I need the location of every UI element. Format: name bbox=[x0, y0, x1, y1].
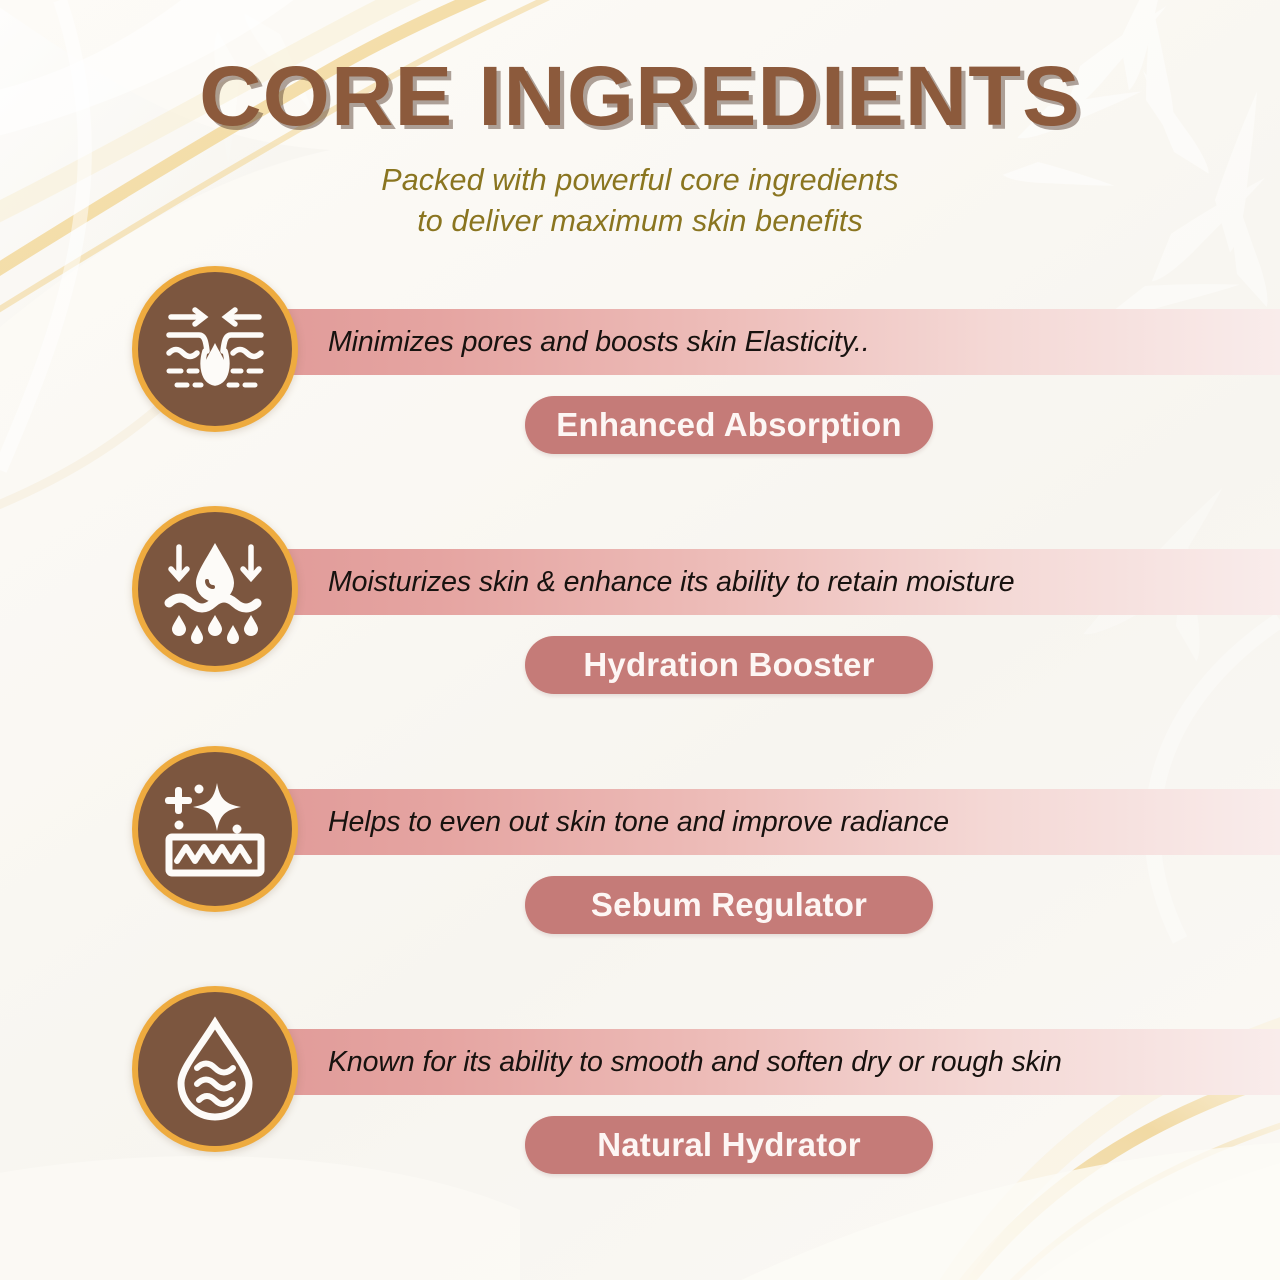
droplet-waves-hydration-icon bbox=[132, 986, 298, 1152]
benefit-description: Moisturizes skin & enhance its ability t… bbox=[250, 566, 1015, 599]
benefit-bar: Known for its ability to smooth and soft… bbox=[250, 1029, 1280, 1095]
ingredient-list: Minimizes pores and boosts skin Elastici… bbox=[0, 261, 1280, 1221]
pore-minimizing-droplet-icon bbox=[132, 266, 298, 432]
benefit-badge-label: Hydration Booster bbox=[583, 646, 874, 684]
benefit-badge[interactable]: Sebum Regulator bbox=[525, 876, 933, 934]
header: CORE INGREDIENTS Packed with powerful co… bbox=[0, 0, 1280, 241]
benefit-bar: Helps to even out skin tone and improve … bbox=[250, 789, 1280, 855]
benefit-badge[interactable]: Hydration Booster bbox=[525, 636, 933, 694]
benefit-badge-label: Natural Hydrator bbox=[597, 1126, 861, 1164]
page-title: CORE INGREDIENTS bbox=[0, 54, 1280, 138]
benefit-bar: Minimizes pores and boosts skin Elastici… bbox=[250, 309, 1280, 375]
benefit-description: Known for its ability to smooth and soft… bbox=[250, 1046, 1062, 1079]
ingredient-row: Helps to even out skin tone and improve … bbox=[0, 741, 1280, 981]
ingredient-row: Minimizes pores and boosts skin Elastici… bbox=[0, 261, 1280, 501]
benefit-badge[interactable]: Enhanced Absorption bbox=[525, 396, 933, 454]
subtitle-line-1: Packed with powerful core ingredients bbox=[0, 160, 1280, 201]
sparkle-skin-radiance-icon bbox=[132, 746, 298, 912]
moisture-absorption-droplets-icon bbox=[132, 506, 298, 672]
benefit-badge[interactable]: Natural Hydrator bbox=[525, 1116, 933, 1174]
ingredient-row: Moisturizes skin & enhance its ability t… bbox=[0, 501, 1280, 741]
benefit-description: Helps to even out skin tone and improve … bbox=[250, 806, 949, 839]
ingredient-row: Known for its ability to smooth and soft… bbox=[0, 981, 1280, 1221]
benefit-description: Minimizes pores and boosts skin Elastici… bbox=[250, 326, 870, 359]
benefit-badge-label: Sebum Regulator bbox=[591, 886, 867, 924]
subtitle-line-2: to deliver maximum skin benefits bbox=[0, 201, 1280, 242]
benefit-bar: Moisturizes skin & enhance its ability t… bbox=[250, 549, 1280, 615]
page-subtitle: Packed with powerful core ingredients to… bbox=[0, 160, 1280, 241]
benefit-badge-label: Enhanced Absorption bbox=[556, 406, 901, 444]
core-ingredients-infographic: CORE INGREDIENTS Packed with powerful co… bbox=[0, 0, 1280, 1280]
